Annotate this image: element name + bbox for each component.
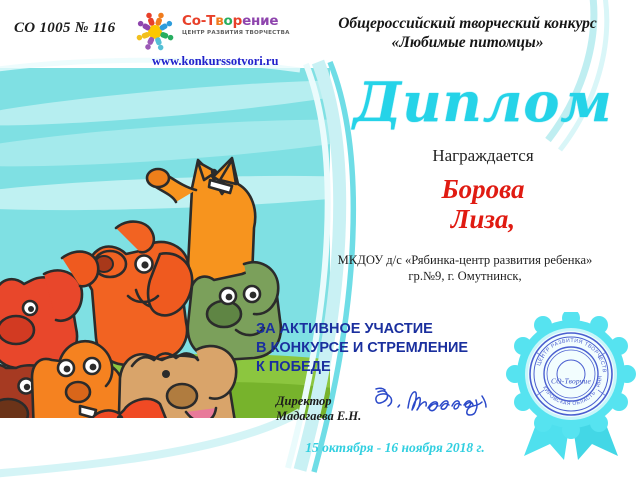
recipient-name-line1: Борова — [352, 174, 614, 204]
institution-info: МКДОУ д/с «Рябинка-центр развития ребенк… — [290, 252, 640, 284]
logo-brand-name: Со-Творение — [182, 14, 297, 28]
logo-brand-seg3: о — [224, 13, 233, 29]
signer-role: Директор — [276, 394, 361, 409]
logo-subtitle: ЦЕНТР РАЗВИТИЯ ТВОРЧЕСТВА — [182, 30, 297, 36]
institution-line1: МКДОУ д/с «Рябинка-центр развития ребенк… — [290, 252, 640, 268]
contest-title: Общероссийский творческий конкурс «Любим… — [300, 14, 635, 52]
signer-block: Директор Мадагаева Е.Н. — [276, 394, 361, 424]
logo-brand-seg4: р — [233, 13, 242, 29]
handwritten-signature — [370, 386, 505, 424]
awarded-label: Награждается — [352, 146, 614, 166]
contest-title-line1: Общероссийский творческий конкурс — [300, 14, 635, 33]
logo-brand-seg1: Со-Т — [182, 13, 215, 29]
logo-brand-seg5: ение — [242, 13, 278, 29]
signer-name: Мадагаева Е.Н. — [276, 409, 361, 424]
organization-url[interactable]: www.konkurssotvori.ru — [152, 54, 278, 69]
sun-people-icon — [132, 8, 178, 54]
recipient-name: Борова Лиза, — [352, 174, 614, 234]
institution-line2: гр.№9, г. Омутнинск, — [290, 268, 640, 284]
award-rosette-seal: ЦЕНТР РАЗВИТИЯ ТВОРЧЕСТВА · ОГРН КИРОВСК… — [506, 312, 636, 462]
logo-brand-seg2: в — [215, 13, 223, 29]
logo-text-block: Со-Творение ЦЕНТР РАЗВИТИЯ ТВОРЧЕСТВА — [182, 14, 297, 36]
rosette-graphic: ЦЕНТР РАЗВИТИЯ ТВОРЧЕСТВА · ОГРН КИРОВСК… — [506, 312, 636, 462]
certificate-page: СО 1005 № 116 — [0, 0, 640, 480]
certificate-number: СО 1005 № 116 — [14, 20, 115, 37]
date-range: 15 октября - 16 ноября 2018 г. — [270, 440, 520, 456]
diploma-heading: Диплом — [352, 74, 614, 130]
recipient-name-line2: Лиза, — [352, 204, 614, 234]
seal-center-text: СО-Творчие — [506, 377, 636, 386]
contest-title-line2: «Любимые питомцы» — [300, 33, 635, 52]
